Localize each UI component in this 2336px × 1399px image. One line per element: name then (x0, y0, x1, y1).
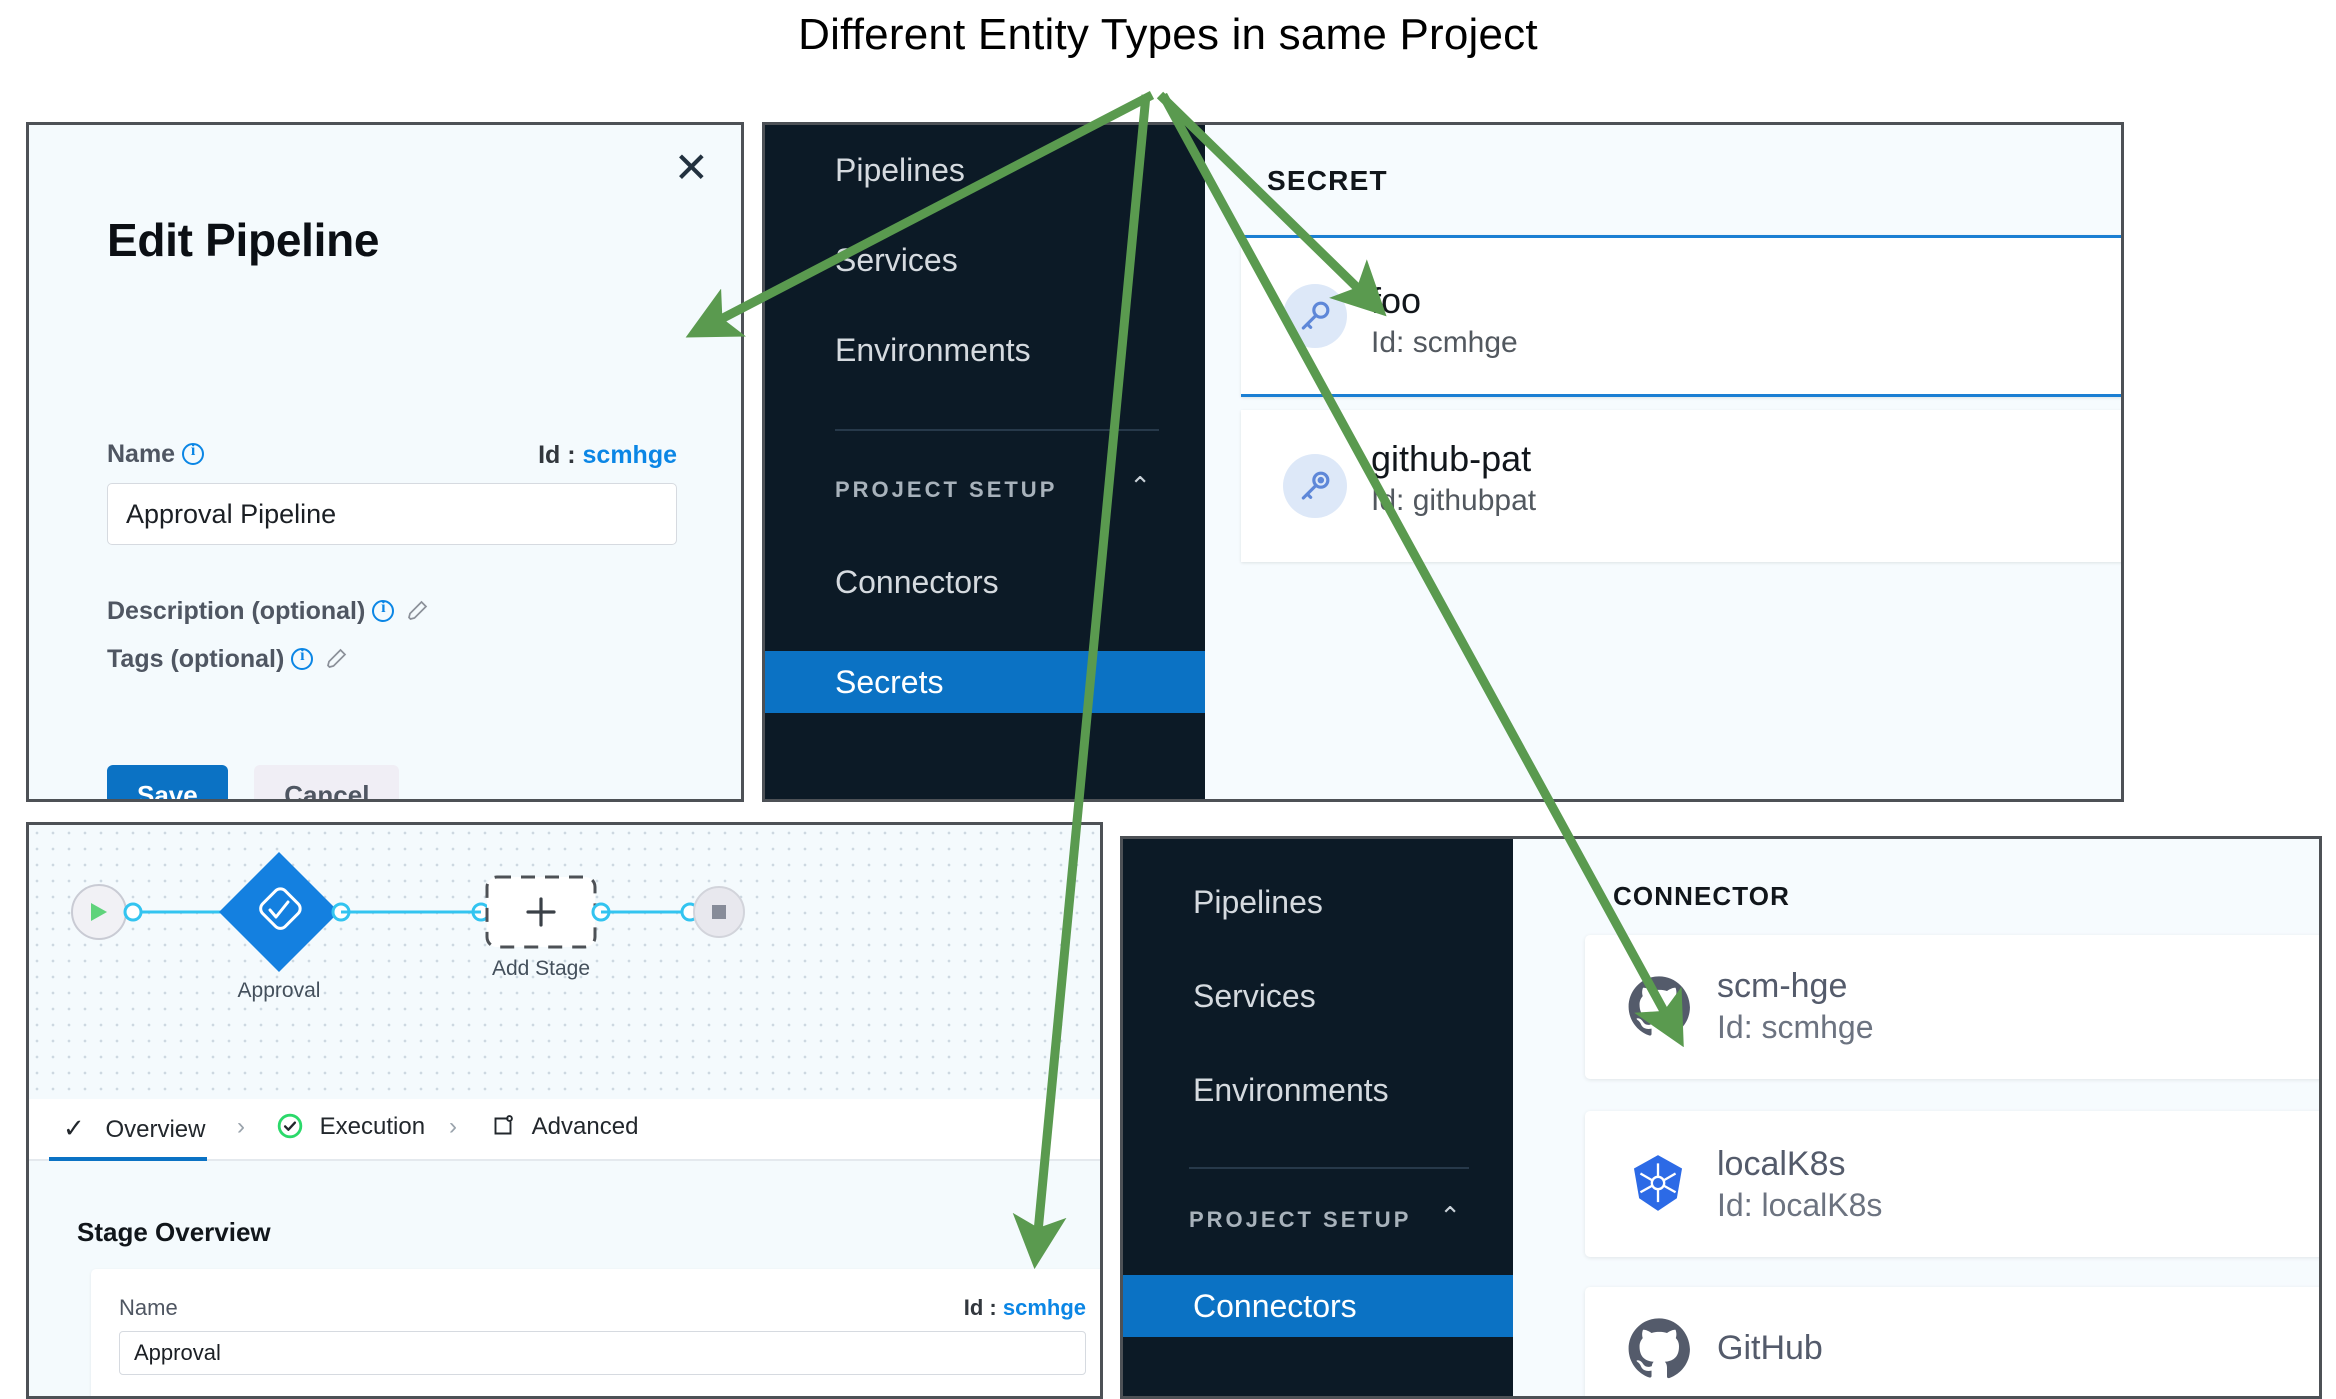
list-item[interactable]: github-pat Id: githubpat (1241, 410, 2124, 562)
sidebar-item-label: Connectors (765, 564, 999, 600)
close-icon[interactable]: ✕ (674, 147, 709, 189)
chevron-up-icon[interactable]: ⌃ (1129, 471, 1151, 502)
sidebar-item-services[interactable]: Services (1123, 965, 1513, 1027)
connectors-sidebar: Pipelines Services Environments PROJECT … (1123, 839, 1513, 1396)
connectors-screen-panel: Pipelines Services Environments PROJECT … (1120, 836, 2322, 1399)
description-label: Description (optional) (107, 597, 365, 625)
list-item[interactable]: GitHub (1585, 1287, 2322, 1399)
save-button[interactable]: Save (107, 765, 228, 802)
page-title: Different Entity Types in same Project (0, 10, 2336, 60)
cancel-button[interactable]: Cancel (254, 765, 399, 802)
tags-label-row: Tags (optional) (107, 645, 349, 677)
sidebar-item-services[interactable]: Services (765, 229, 1205, 291)
chevron-up-icon[interactable]: ⌃ (1439, 1201, 1461, 1232)
kubernetes-icon (1627, 1152, 1691, 1216)
sidebar-item-connectors[interactable]: Connectors (765, 551, 1205, 613)
sidebar-item-label: Pipelines (1123, 884, 1323, 920)
sidebar-item-secrets[interactable]: Secrets (765, 651, 1205, 713)
list-item[interactable]: scm-hge Id: scmhge (1585, 935, 2322, 1079)
sidebar-item-label: Pipelines (765, 152, 965, 188)
sidebar-divider (835, 429, 1159, 431)
list-item[interactable]: foo Id: scmhge (1241, 235, 2124, 397)
sidebar-item-label: Secrets (765, 664, 943, 700)
sidebar-item-label: Services (765, 242, 958, 278)
list-item[interactable]: localK8s Id: localK8s (1585, 1111, 2322, 1257)
sidebar-section-project-setup: PROJECT SETUP (1189, 1207, 1411, 1233)
advanced-settings-icon (491, 1114, 515, 1145)
add-stage-label: Add Stage (481, 957, 601, 981)
secret-name: foo (1371, 280, 1421, 322)
sidebar-item-label: Environments (765, 332, 1031, 368)
tags-label: Tags (optional) (107, 645, 284, 673)
sidebar-item-label: Services (1123, 978, 1316, 1014)
secret-id: Id: githubpat (1371, 484, 1536, 518)
stage-name-input[interactable]: Approval (119, 1331, 1086, 1375)
name-label: Name (107, 440, 204, 469)
modal-actions: Save Cancel (107, 765, 399, 802)
check-circle-icon (277, 1113, 303, 1146)
stage-name-label: Name (119, 1295, 178, 1321)
sidebar-item-environments[interactable]: Environments (1123, 1059, 1513, 1121)
pipeline-studio-panel: Approval Add Stage ✓ Overview › Executio… (26, 822, 1103, 1399)
sidebar-item-pipelines[interactable]: Pipelines (765, 139, 1205, 201)
connector-name: localK8s (1717, 1145, 1846, 1184)
sidebar-item-label: Environments (1123, 1072, 1389, 1108)
stage-node-label: Approval (219, 979, 339, 1003)
sidebar-divider (1189, 1167, 1469, 1169)
sidebar-item-label: Connectors (1123, 1288, 1357, 1324)
pipeline-canvas[interactable]: Approval Add Stage (29, 825, 1100, 1099)
sidebar-item-connectors[interactable]: Connectors (1123, 1275, 1513, 1337)
pipeline-name-input[interactable]: Approval Pipeline (107, 483, 677, 545)
edit-pipeline-panel: ✕ Edit Pipeline Name Id : scmhge Approva… (26, 122, 744, 802)
key-icon (1283, 454, 1347, 518)
tab-overview[interactable]: ✓ Overview (63, 1113, 206, 1144)
connector-name: scm-hge (1717, 967, 1847, 1006)
connectors-list-area: CONNECTOR scm-hge Id: scmhge (1513, 839, 2319, 1396)
edit-pipeline-title: Edit Pipeline (107, 213, 379, 267)
tab-advanced[interactable]: Advanced (491, 1113, 638, 1145)
pipeline-id-value: scmhge (583, 441, 677, 469)
pipeline-id: Id : scmhge (538, 441, 677, 470)
connector-name: GitHub (1717, 1329, 1823, 1368)
secret-id: Id: scmhge (1371, 326, 1518, 360)
sidebar-item-environments[interactable]: Environments (765, 319, 1205, 381)
key-icon (1283, 284, 1347, 348)
info-icon[interactable] (372, 600, 394, 622)
stage-overview-section: Stage Overview Name Id : scmhge Approval (29, 1161, 1100, 1396)
stage-tabs: ✓ Overview › Execution › Advanced (29, 1099, 1100, 1161)
stage-id-value: scmhge (1003, 1295, 1086, 1320)
stage-id: Id : scmhge (964, 1295, 1086, 1321)
info-icon[interactable] (182, 443, 204, 465)
connector-id: Id: scmhge (1717, 1009, 1874, 1046)
tab-separator-2: › (449, 1113, 457, 1141)
secrets-list-area: SECRET foo Id: scmhge github-pat Id: gi (1205, 125, 2121, 799)
tab-separator-1: › (237, 1113, 245, 1141)
secret-list-header: SECRET (1267, 165, 1388, 197)
tab-execution[interactable]: Execution (277, 1113, 425, 1146)
secret-name: github-pat (1371, 438, 1531, 480)
pencil-icon[interactable] (406, 598, 430, 629)
check-icon: ✓ (63, 1113, 85, 1143)
github-icon (1627, 1317, 1691, 1381)
sidebar-item-pipelines[interactable]: Pipelines (1123, 871, 1513, 933)
name-label-row: Name Id : scmhge (107, 440, 677, 470)
stage-overview-card: Name Id : scmhge Approval (91, 1269, 1103, 1399)
pencil-icon[interactable] (325, 646, 349, 677)
stage-overview-title: Stage Overview (77, 1217, 271, 1248)
info-icon[interactable] (291, 648, 313, 670)
secrets-sidebar: Pipelines Services Environments PROJECT … (765, 125, 1205, 799)
sidebar-section-project-setup: PROJECT SETUP (835, 477, 1057, 503)
connector-id: Id: localK8s (1717, 1187, 1882, 1224)
description-label-row: Description (optional) (107, 597, 430, 629)
connector-list-header: CONNECTOR (1613, 881, 1790, 912)
github-icon (1627, 975, 1691, 1039)
secrets-screen-panel: Pipelines Services Environments PROJECT … (762, 122, 2124, 802)
